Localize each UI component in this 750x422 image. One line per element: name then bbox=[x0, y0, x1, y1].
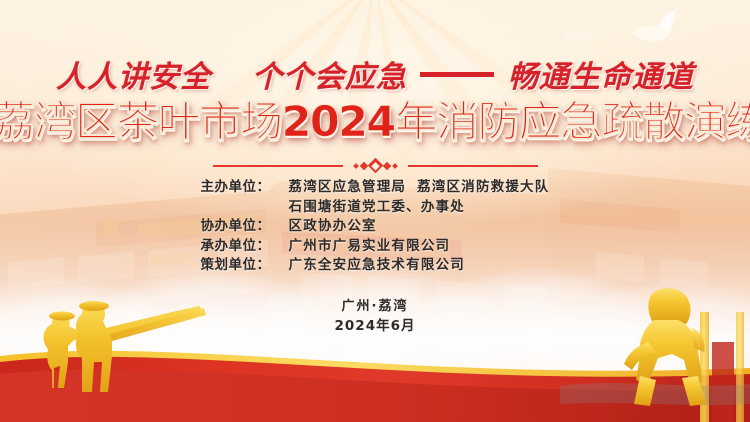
organizer-label-host: 主办单位： bbox=[201, 178, 289, 198]
organizer-host-a: 荔湾区应急管理局 bbox=[289, 179, 407, 195]
organizer-value-planner: 广东全安应急技术有限公司 bbox=[289, 256, 465, 276]
organizer-block: 主办单位： 荔湾区应急管理局荔湾区消防救援大队 石围塘街道党工委、办事处 协办单… bbox=[0, 178, 750, 276]
organizer-host-b: 荔湾区消防救援大队 bbox=[417, 179, 549, 195]
slogan-part-1: 人人讲安全 bbox=[56, 60, 211, 95]
divider-bar-right bbox=[408, 165, 538, 167]
footer-place: 广州·荔湾 bbox=[0, 297, 750, 316]
footer-date: 2024年6月 bbox=[0, 316, 750, 336]
organizer-row-cohost: 协办单位： 区政协办公室 bbox=[201, 217, 550, 237]
diamond-ornament-icon bbox=[354, 160, 397, 171]
organizer-row-undertaker: 承办单位： 广州市广易实业有限公司 bbox=[201, 237, 550, 257]
divider-bar-left bbox=[213, 165, 343, 167]
organizer-row-planner: 策划单位： 广东全安应急技术有限公司 bbox=[201, 256, 550, 276]
organizer-label-planner: 策划单位： bbox=[201, 256, 289, 276]
organizer-row-host: 主办单位： 荔湾区应急管理局荔湾区消防救援大队 bbox=[201, 178, 550, 198]
main-title-wrap: 荔湾区茶叶市场2024年消防应急疏散演练 bbox=[0, 100, 750, 144]
organizer-value-host-line2: 石围塘街道党工委、办事处 bbox=[289, 198, 465, 218]
organizer-label-undertaker: 承办单位： bbox=[201, 237, 289, 257]
dove-icon bbox=[628, 6, 684, 46]
organizer-label-cohost: 协办单位： bbox=[201, 217, 289, 237]
organizer-row-host-cont: 石围塘街道党工委、办事处 bbox=[201, 198, 550, 218]
poster-canvas: 人人讲安全 个个会应急 畅通生命通道 荔湾区茶叶市场2024年消防应急疏散演练 … bbox=[0, 0, 750, 422]
page-title: 荔湾区茶叶市场2024年消防应急疏散演练 bbox=[0, 100, 750, 144]
slogan-part-3: 畅通生命通道 bbox=[508, 60, 694, 95]
organizer-value-undertaker: 广州市广易实业有限公司 bbox=[289, 237, 451, 257]
organizer-value-host: 荔湾区应急管理局荔湾区消防救援大队 bbox=[289, 178, 550, 198]
slogan-dash bbox=[420, 72, 494, 77]
decorative-divider bbox=[0, 160, 750, 171]
organizer-value-cohost: 区政协办公室 bbox=[289, 217, 377, 237]
dove-icon-small bbox=[560, 18, 600, 44]
footer-block: 广州·荔湾 2024年6月 bbox=[0, 297, 750, 336]
slogan-line: 人人讲安全 个个会应急 畅通生命通道 bbox=[0, 52, 750, 96]
slogan-part-2: 个个会应急 bbox=[252, 60, 407, 95]
